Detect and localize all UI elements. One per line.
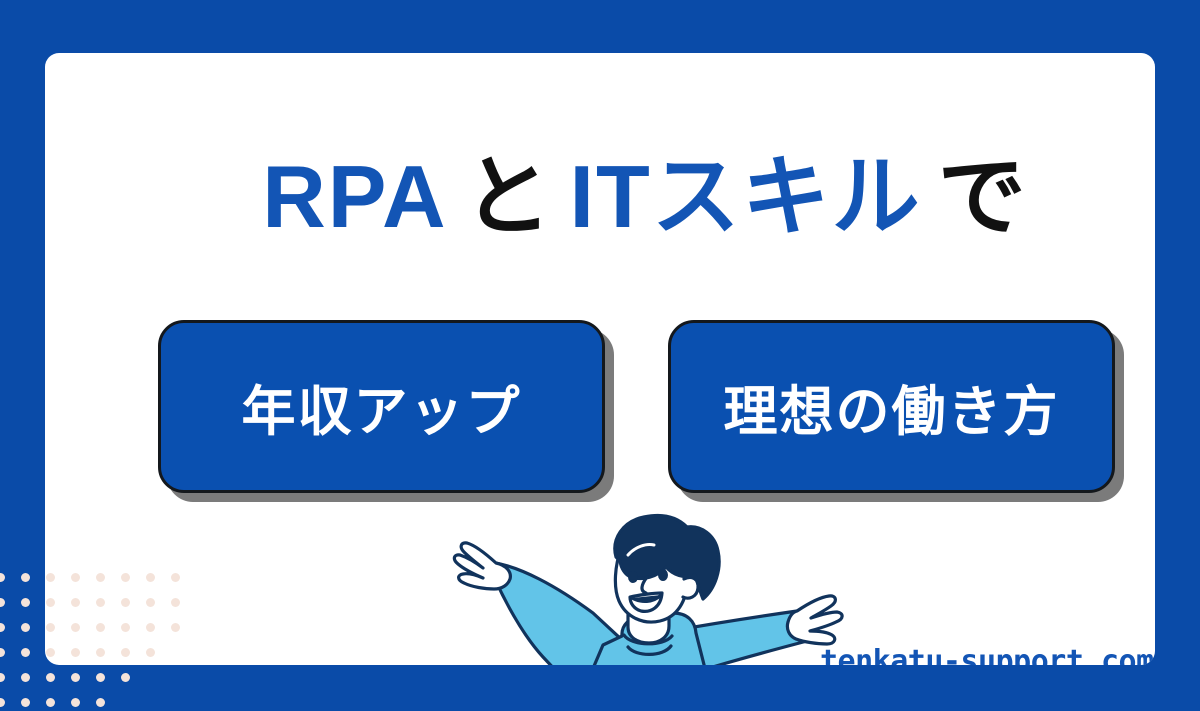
badge-ideal-worklife-label: 理想の働き方 (724, 367, 1060, 446)
headline-segment-to: と (464, 147, 554, 246)
decor-dot (96, 698, 105, 707)
badge-income-up-label: 年収アップ (242, 367, 522, 446)
site-url: tenkatu-support.com (820, 644, 1154, 665)
headline-segment-de: で (938, 147, 1028, 246)
badge-income-up[interactable]: 年収アップ (158, 320, 605, 493)
decor-dot (121, 673, 130, 682)
decor-dot (0, 623, 5, 632)
decor-dot (71, 698, 80, 707)
decor-dot (46, 673, 55, 682)
decor-dot (21, 673, 30, 682)
decor-dot (0, 573, 5, 582)
decor-dot (0, 698, 5, 707)
headline-segment-itskill: ITスキル (570, 147, 922, 246)
person-arms-open-illustration (425, 505, 865, 665)
decor-dot (46, 698, 55, 707)
headline-segment-rpa: RPA (262, 147, 447, 246)
decor-dot (21, 573, 30, 582)
badge-ideal-worklife[interactable]: 理想の働き方 (668, 320, 1115, 493)
banner-canvas: RPAとITスキルで 年収アップ 理想の働き方 (0, 0, 1200, 711)
decor-dot (21, 648, 30, 657)
decor-dot (96, 673, 105, 682)
decor-dot (0, 648, 5, 657)
decor-dot (0, 598, 5, 607)
white-card: RPAとITスキルで 年収アップ 理想の働き方 (45, 53, 1155, 665)
page-title: RPAとITスキルで (45, 149, 1155, 244)
decor-dot (21, 698, 30, 707)
decor-dot (21, 598, 30, 607)
decor-dot (0, 673, 5, 682)
decor-dot (21, 623, 30, 632)
decor-dot (71, 673, 80, 682)
